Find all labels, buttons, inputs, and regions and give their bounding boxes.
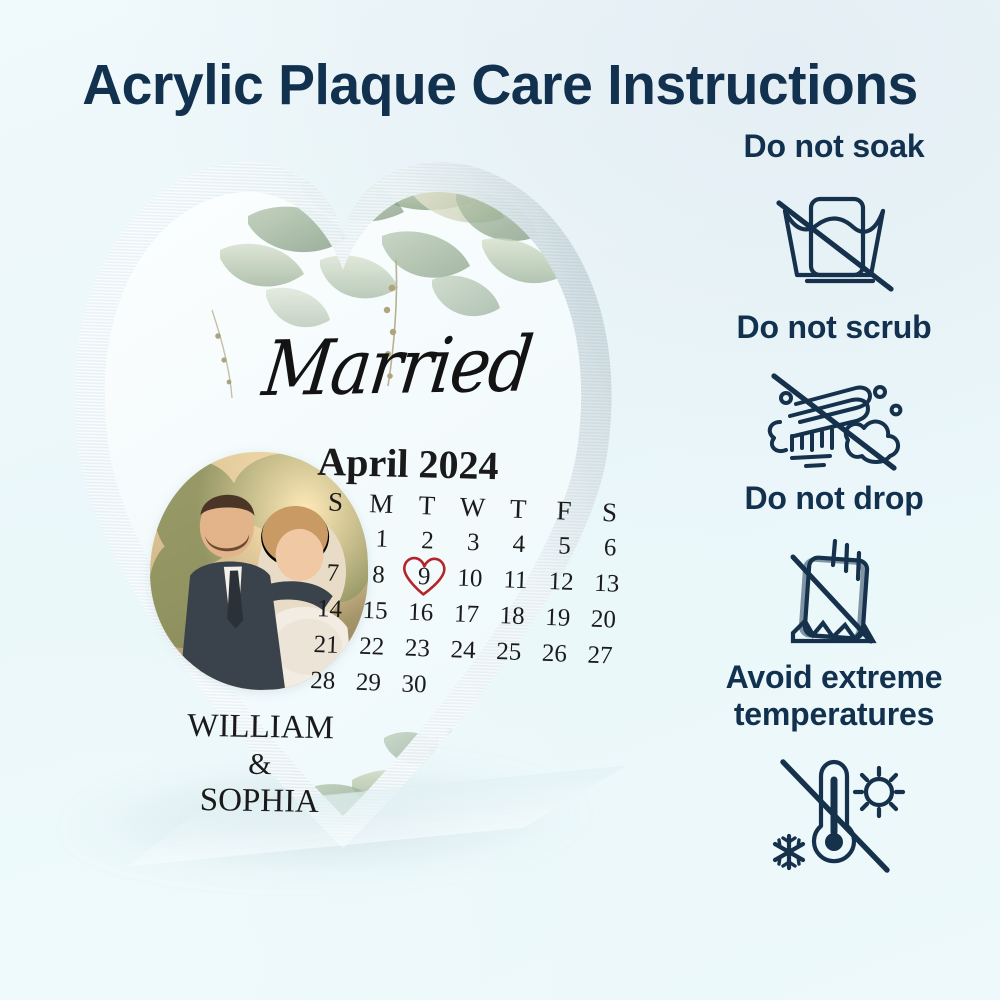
care-item-avoid-extreme-temperatures: Avoid extreme temperatures: [668, 659, 1000, 875]
no-soak-icon: [749, 171, 919, 299]
page-title: Acrylic Plaque Care Instructions: [15, 52, 985, 118]
calendar-week-row: 14 15 16 17 18 19 20: [306, 595, 627, 635]
weekday-label: F: [540, 495, 587, 528]
calendar-day: 7: [310, 559, 357, 589]
calendar-day: 27: [577, 641, 624, 671]
calendar-day: 29: [345, 668, 392, 698]
no-scrub-icon: [744, 352, 924, 478]
calendar-week-row: 1 2 3 4 5 6: [313, 523, 634, 563]
calendar-day-marked: 9: [401, 562, 448, 592]
weekday-label: M: [358, 488, 405, 521]
calendar-day: 13: [583, 569, 630, 599]
calendar-day: 19: [534, 604, 581, 634]
weekday-label: T: [495, 493, 542, 526]
calendar-day: 25: [485, 638, 532, 668]
calendar-day: [482, 674, 529, 704]
care-item-do-not-scrub: Do not scrub: [668, 309, 1000, 478]
calendar-day: 17: [443, 600, 490, 630]
weekday-label: S: [312, 486, 359, 519]
care-label: Do not drop: [668, 480, 1000, 517]
calendar-day: 22: [348, 632, 395, 662]
care-label: Do not scrub: [668, 309, 1000, 346]
care-instructions-list: Do not soak Do not scrub: [668, 128, 1000, 876]
calendar-day: 3: [450, 528, 497, 558]
calendar-day: 28: [299, 667, 346, 697]
calendar-day: 5: [541, 532, 588, 562]
calendar-day: 23: [394, 634, 441, 664]
calendar-day: 10: [446, 564, 493, 594]
name-second: SOPHIA: [129, 780, 390, 823]
care-item-do-not-drop: Do not drop: [668, 480, 1000, 653]
name-separator: &: [130, 745, 391, 785]
calendar-day: 26: [531, 639, 578, 669]
heart-marker-icon: [400, 555, 448, 599]
calendar-day: 20: [580, 605, 627, 635]
calendar-month-year: April 2024: [247, 436, 568, 491]
calendar-day: [573, 677, 620, 707]
weekday-label: T: [404, 489, 451, 522]
care-label: Do not soak: [668, 128, 1000, 165]
calendar-day: 8: [355, 561, 402, 591]
calendar-day: [528, 675, 575, 705]
calendar-day: 4: [496, 530, 543, 560]
calendar-day: 18: [489, 602, 536, 632]
calendar-day: 24: [440, 636, 487, 666]
calendar-day: 11: [492, 566, 539, 596]
calendar-day: [436, 672, 483, 702]
calendar-day: 16: [397, 598, 444, 628]
calendar-day: 6: [587, 533, 634, 563]
weekday-label: S: [586, 496, 633, 529]
calendar-day: 12: [538, 568, 585, 598]
married-script-text: Married: [227, 320, 568, 414]
calendar-day: 14: [306, 595, 353, 625]
no-drop-icon: [749, 523, 919, 653]
calendar-day: 1: [359, 525, 406, 555]
calendar: S M T W T F S 1 2 3 4 5 6 7 8: [307, 486, 633, 669]
calendar-day: [313, 523, 360, 553]
calendar-day: 30: [391, 670, 438, 700]
weekday-label: W: [449, 491, 496, 524]
calendar-day: 21: [303, 631, 350, 661]
calendar-week-row: 7 8 9 10 11 12 13: [310, 559, 631, 599]
care-item-do-not-soak: Do not soak: [668, 128, 1000, 299]
no-extreme-temperature-icon: [745, 740, 923, 876]
calendar-day: 2: [404, 526, 451, 556]
name-first: WILLIAM: [130, 706, 391, 749]
couple-names: WILLIAM & SOPHIA: [129, 706, 391, 824]
calendar-day: 15: [352, 597, 399, 627]
care-label: Avoid extreme temperatures: [668, 659, 1000, 733]
acrylic-plaque: Married April 2024 S M T W T F S 1 2 3 4…: [52, 140, 662, 900]
